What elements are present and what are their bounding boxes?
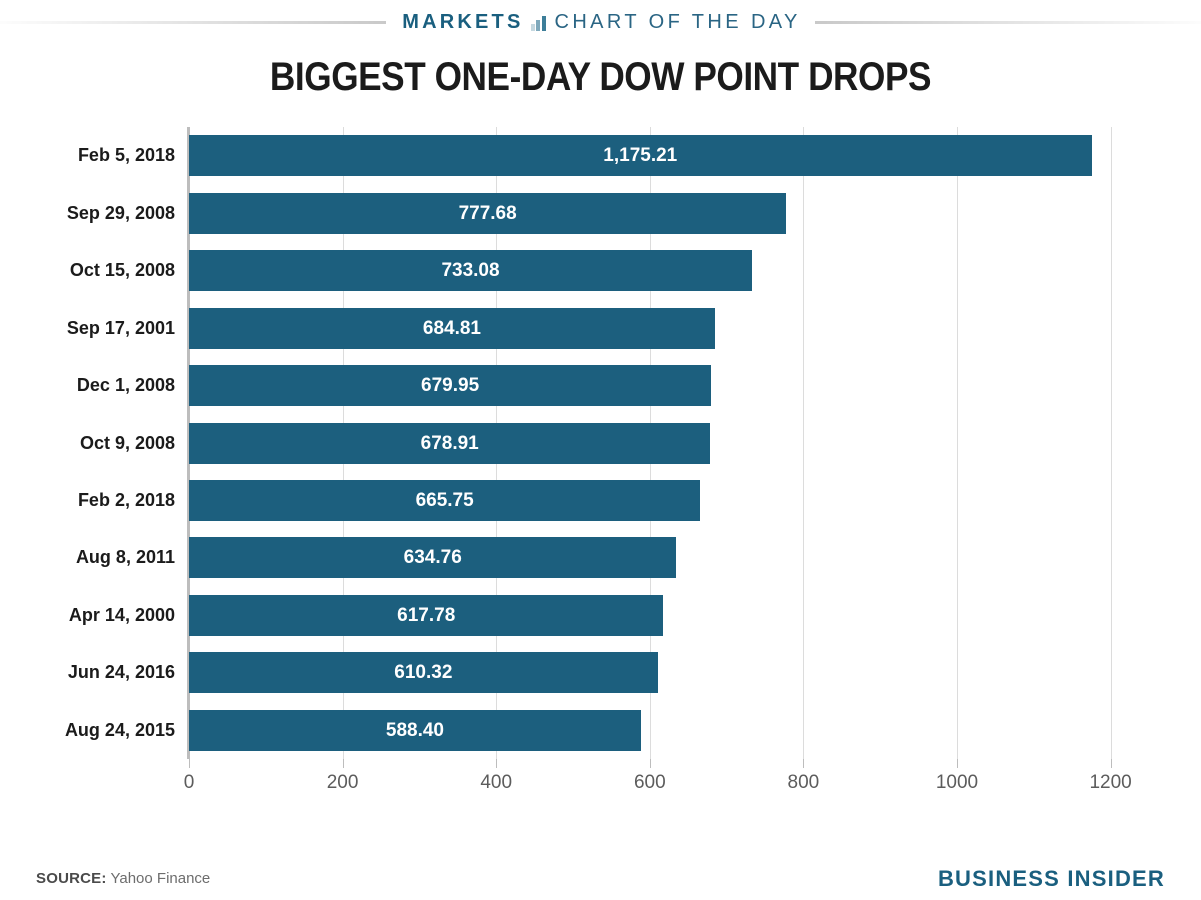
x-axis-tick-label: 1200 xyxy=(1089,772,1131,794)
bar[interactable] xyxy=(189,595,663,636)
x-axis-tick xyxy=(189,759,190,768)
bar[interactable] xyxy=(189,423,710,464)
bar-row[interactable]: 678.91 xyxy=(189,423,1149,464)
bar-row[interactable]: 634.76 xyxy=(189,537,1149,578)
bar[interactable] xyxy=(189,365,711,406)
bar-row[interactable]: 733.08 xyxy=(189,250,1149,291)
x-axis-tick xyxy=(803,759,804,768)
x-axis-tick-label: 800 xyxy=(788,772,820,794)
y-axis-label: Feb 5, 2018 xyxy=(78,135,175,176)
x-axis-ticks xyxy=(189,759,1149,769)
x-axis-tick xyxy=(957,759,958,768)
x-axis-tick-label: 600 xyxy=(634,772,666,794)
bar-chart-icon-bar-2 xyxy=(536,20,540,31)
y-axis-label: Aug 24, 2015 xyxy=(65,710,175,751)
bar-row[interactable]: 1,175.21 xyxy=(189,135,1149,176)
header-eyebrow: MARKETS CHART OF THE DAY xyxy=(0,8,1201,36)
bar-row[interactable]: 777.68 xyxy=(189,193,1149,234)
x-axis-tick-label: 200 xyxy=(327,772,359,794)
bar-chart-icon-bar-3 xyxy=(542,16,546,31)
y-axis-label: Apr 14, 2000 xyxy=(69,595,175,636)
plot-area: 1,175.21777.68733.08684.81679.95678.9166… xyxy=(189,127,1149,759)
source-label: SOURCE: xyxy=(36,870,107,887)
bar[interactable] xyxy=(189,308,715,349)
bar[interactable] xyxy=(189,652,658,693)
bar-row[interactable]: 588.40 xyxy=(189,710,1149,751)
x-axis-tick xyxy=(1111,759,1112,768)
y-axis-label: Jun 24, 2016 xyxy=(68,652,175,693)
y-axis-label: Sep 29, 2008 xyxy=(67,193,175,234)
x-axis-tick-label: 1000 xyxy=(936,772,978,794)
bar-chart-icon-bar-1 xyxy=(531,24,535,31)
y-axis-label: Oct 15, 2008 xyxy=(70,250,175,291)
footer-divider xyxy=(0,842,1201,843)
bar-row[interactable]: 679.95 xyxy=(189,365,1149,406)
bar-row[interactable]: 610.32 xyxy=(189,652,1149,693)
bar-row[interactable]: 617.78 xyxy=(189,595,1149,636)
x-axis-tick xyxy=(343,759,344,768)
page-title: BIGGEST ONE-DAY DOW POINT DROPS xyxy=(72,55,1129,100)
bar[interactable] xyxy=(189,193,786,234)
bar[interactable] xyxy=(189,250,752,291)
eyebrow-chart-of-the-day-label: CHART OF THE DAY xyxy=(555,11,801,34)
y-axis-label: Feb 2, 2018 xyxy=(78,480,175,521)
bar-series: 1,175.21777.68733.08684.81679.95678.9166… xyxy=(189,127,1149,759)
source-value: Yahoo Finance xyxy=(110,870,210,887)
bar-row[interactable]: 665.75 xyxy=(189,480,1149,521)
x-axis-tick-label: 400 xyxy=(480,772,512,794)
x-axis-tick-labels: 020040060080010001200 xyxy=(0,772,1201,798)
y-axis-label: Oct 9, 2008 xyxy=(80,423,175,464)
y-axis-label: Dec 1, 2008 xyxy=(77,365,175,406)
bar[interactable] xyxy=(189,710,641,751)
x-axis-tick xyxy=(496,759,497,768)
bar-row[interactable]: 684.81 xyxy=(189,308,1149,349)
business-insider-logo: BUSINESS INSIDER xyxy=(938,866,1165,892)
bar[interactable] xyxy=(189,135,1092,176)
y-axis-labels: Feb 5, 2018Sep 29, 2008Oct 15, 2008Sep 1… xyxy=(0,127,175,759)
bar[interactable] xyxy=(189,480,700,521)
bar-chart-icon xyxy=(531,15,546,31)
chart-page: MARKETS CHART OF THE DAY BIGGEST ONE-DAY… xyxy=(0,0,1201,900)
bar[interactable] xyxy=(189,537,676,578)
eyebrow-rule-left xyxy=(0,21,386,24)
eyebrow-rule-right xyxy=(815,21,1201,24)
eyebrow-markets-label: MARKETS xyxy=(402,11,523,34)
y-axis-label: Aug 8, 2011 xyxy=(76,537,175,578)
x-axis-tick xyxy=(650,759,651,768)
y-axis-label: Sep 17, 2001 xyxy=(67,308,175,349)
x-axis-tick-label: 0 xyxy=(184,772,195,794)
source-note: SOURCE: Yahoo Finance xyxy=(36,870,210,887)
